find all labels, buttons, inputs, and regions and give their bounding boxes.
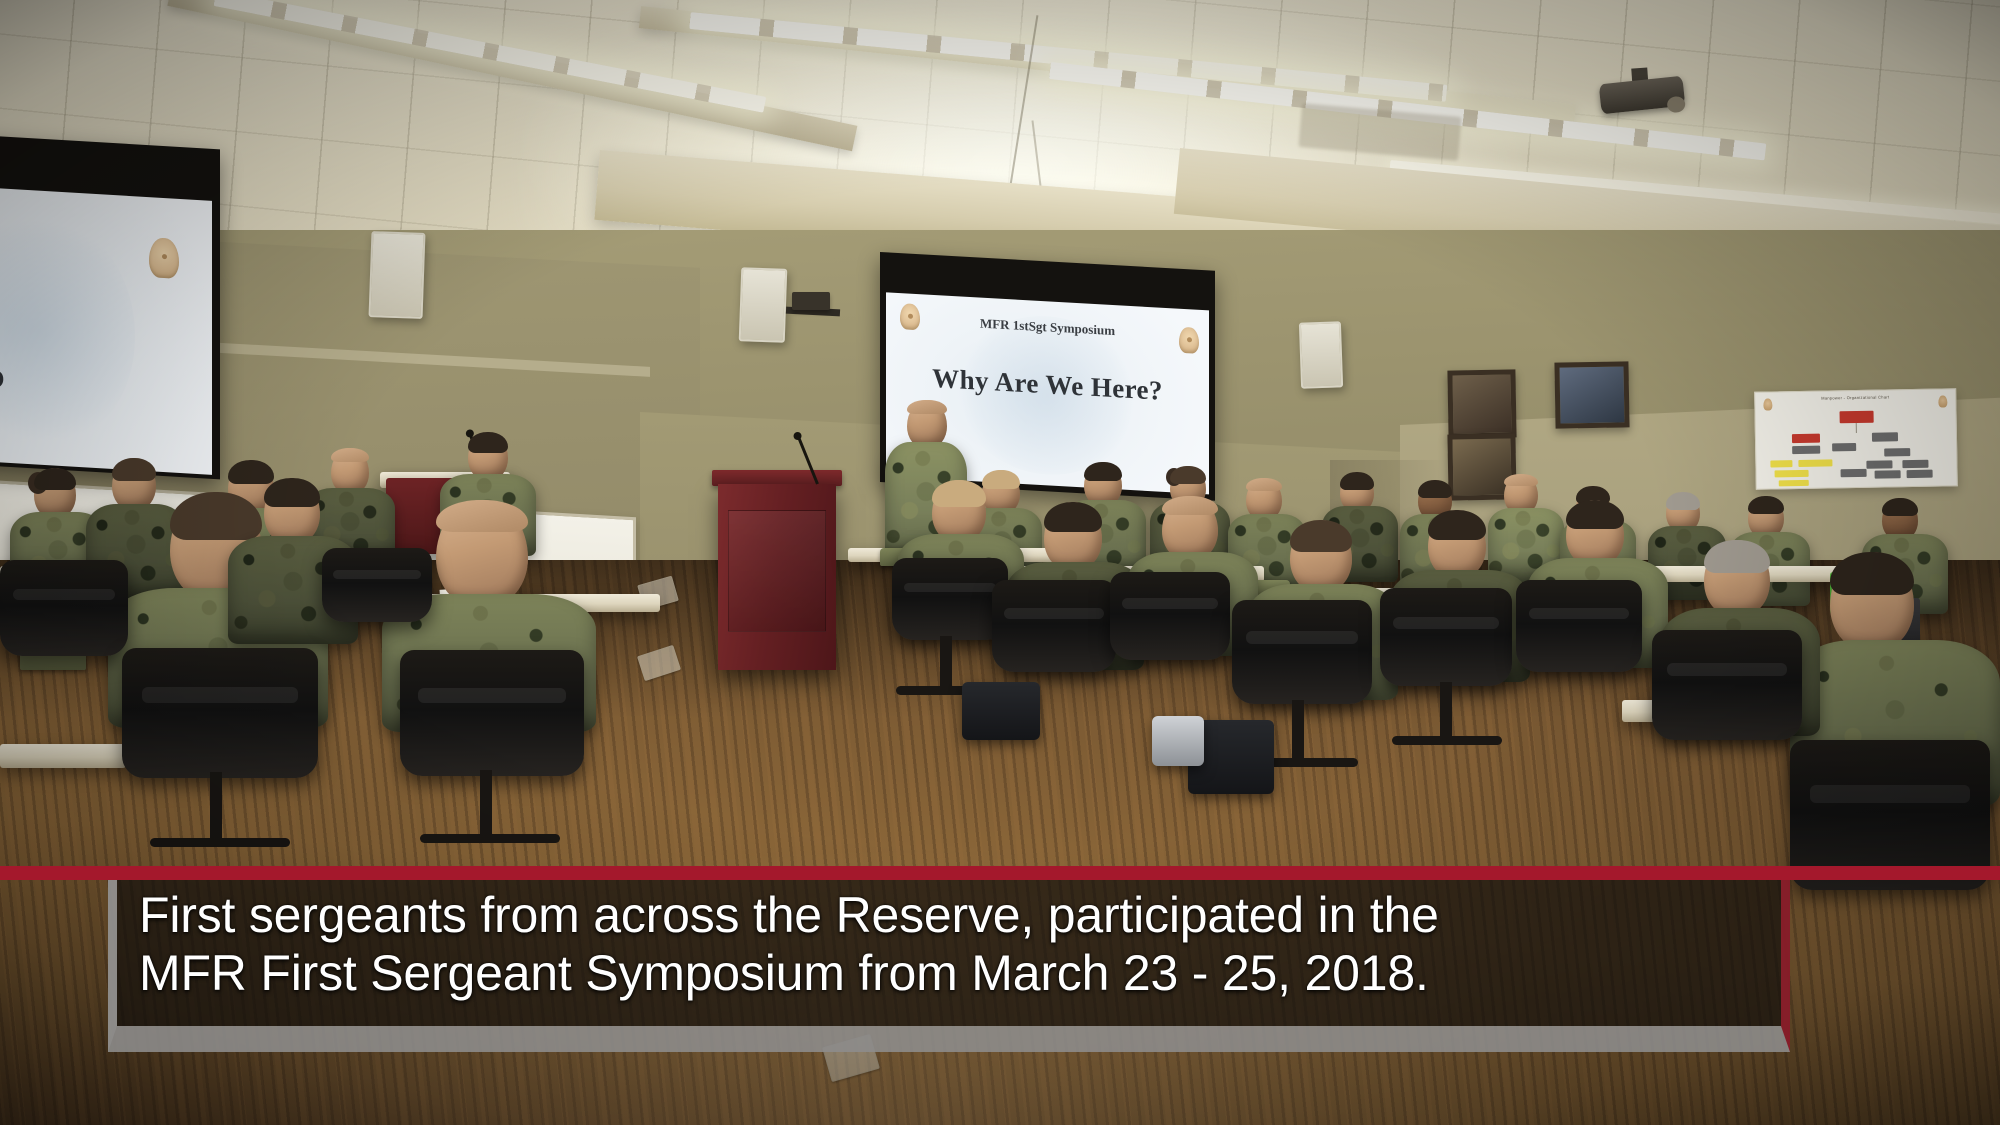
person-head <box>436 500 528 606</box>
org-node <box>1907 470 1933 478</box>
podium <box>718 470 836 670</box>
office-chair <box>400 650 584 776</box>
chair-post <box>940 636 952 690</box>
person-head <box>932 480 986 542</box>
chair-base <box>150 838 290 847</box>
org-node <box>1798 459 1832 467</box>
backpack <box>962 682 1040 740</box>
classroom-table <box>0 744 126 768</box>
person-head <box>907 400 947 448</box>
chair-base <box>420 834 560 843</box>
projector-body <box>1599 76 1686 115</box>
org-node <box>1770 460 1792 467</box>
chair-post <box>480 770 492 838</box>
org-node <box>1792 434 1820 443</box>
podium-panel <box>728 510 826 632</box>
org-chart-poster: Manpower - Organizational Chart <box>1754 388 1958 490</box>
office-chair <box>892 558 1008 640</box>
hair <box>1246 478 1282 491</box>
office-chair <box>1380 588 1512 686</box>
hair <box>264 478 320 507</box>
wall-speaker <box>739 267 788 343</box>
hair <box>1666 492 1700 510</box>
hair <box>1170 466 1206 484</box>
hair <box>1340 472 1374 490</box>
org-connector <box>1856 423 1857 433</box>
org-node <box>1872 432 1898 441</box>
projection-screen-left: osium Here? <box>0 128 220 479</box>
framed-wall-photo <box>1447 369 1516 438</box>
org-node <box>1902 460 1928 468</box>
person-head <box>1428 510 1486 578</box>
office-chair <box>0 560 128 656</box>
person-head <box>1566 500 1624 566</box>
plastic-bag <box>1152 716 1204 766</box>
projection-screen-surface: osium Here? <box>0 180 212 475</box>
org-node <box>1840 411 1874 424</box>
org-node <box>1875 470 1901 478</box>
org-node <box>1779 480 1809 487</box>
person-head <box>1044 502 1102 570</box>
caption-box: First sergeants from across the Reserve,… <box>108 880 1790 1052</box>
person-head <box>34 468 76 518</box>
hair <box>932 480 986 507</box>
office-chair <box>1110 572 1230 660</box>
org-node <box>1832 443 1856 451</box>
hair <box>1830 552 1914 595</box>
chair-post <box>1440 682 1452 740</box>
office-chair <box>322 548 432 622</box>
podium-body <box>718 484 836 670</box>
person-head <box>468 432 508 480</box>
org-node <box>1841 469 1867 477</box>
person-head <box>1290 520 1352 592</box>
person-head <box>1162 496 1218 560</box>
org-node <box>1792 446 1820 454</box>
framed-wall-photo <box>1554 361 1629 428</box>
caption-text: First sergeants from across the Reserve,… <box>139 886 1767 1002</box>
hair <box>1504 474 1538 486</box>
hair <box>1044 502 1102 532</box>
hair <box>1428 510 1486 540</box>
org-node <box>1866 460 1892 468</box>
chair-base <box>1392 736 1502 745</box>
wall-speaker <box>369 231 426 319</box>
wall-speaker <box>1299 321 1343 388</box>
person-head <box>1830 552 1914 650</box>
office-chair <box>122 648 318 778</box>
org-node <box>1884 448 1910 456</box>
office-chair <box>1232 600 1372 704</box>
hair <box>112 458 156 481</box>
org-node <box>1775 470 1809 478</box>
hair <box>331 448 369 462</box>
av-control-box <box>792 292 830 310</box>
office-chair <box>1516 580 1642 672</box>
hair <box>1162 496 1218 515</box>
hair <box>436 500 528 532</box>
org-chart-title: Manpower - Organizational Chart <box>1755 393 1955 401</box>
hair <box>1084 462 1122 481</box>
chair-post <box>1292 700 1304 762</box>
hair <box>907 400 947 414</box>
office-chair <box>992 580 1116 672</box>
hair <box>1704 540 1770 573</box>
hair <box>1748 496 1784 514</box>
hair <box>34 468 76 490</box>
video-frame: Manpower - Organizational Chart osium He… <box>0 0 2000 1125</box>
office-chair <box>1652 630 1802 740</box>
ceiling-projector <box>1600 68 1690 110</box>
hair <box>1566 500 1624 529</box>
hair <box>1882 498 1918 516</box>
chair-post <box>210 772 222 842</box>
caption-accent-bar <box>0 866 2000 880</box>
hair <box>468 432 508 453</box>
person-head <box>264 478 320 544</box>
hair <box>1290 520 1352 552</box>
hair <box>1418 480 1452 498</box>
person-head <box>1704 540 1770 616</box>
